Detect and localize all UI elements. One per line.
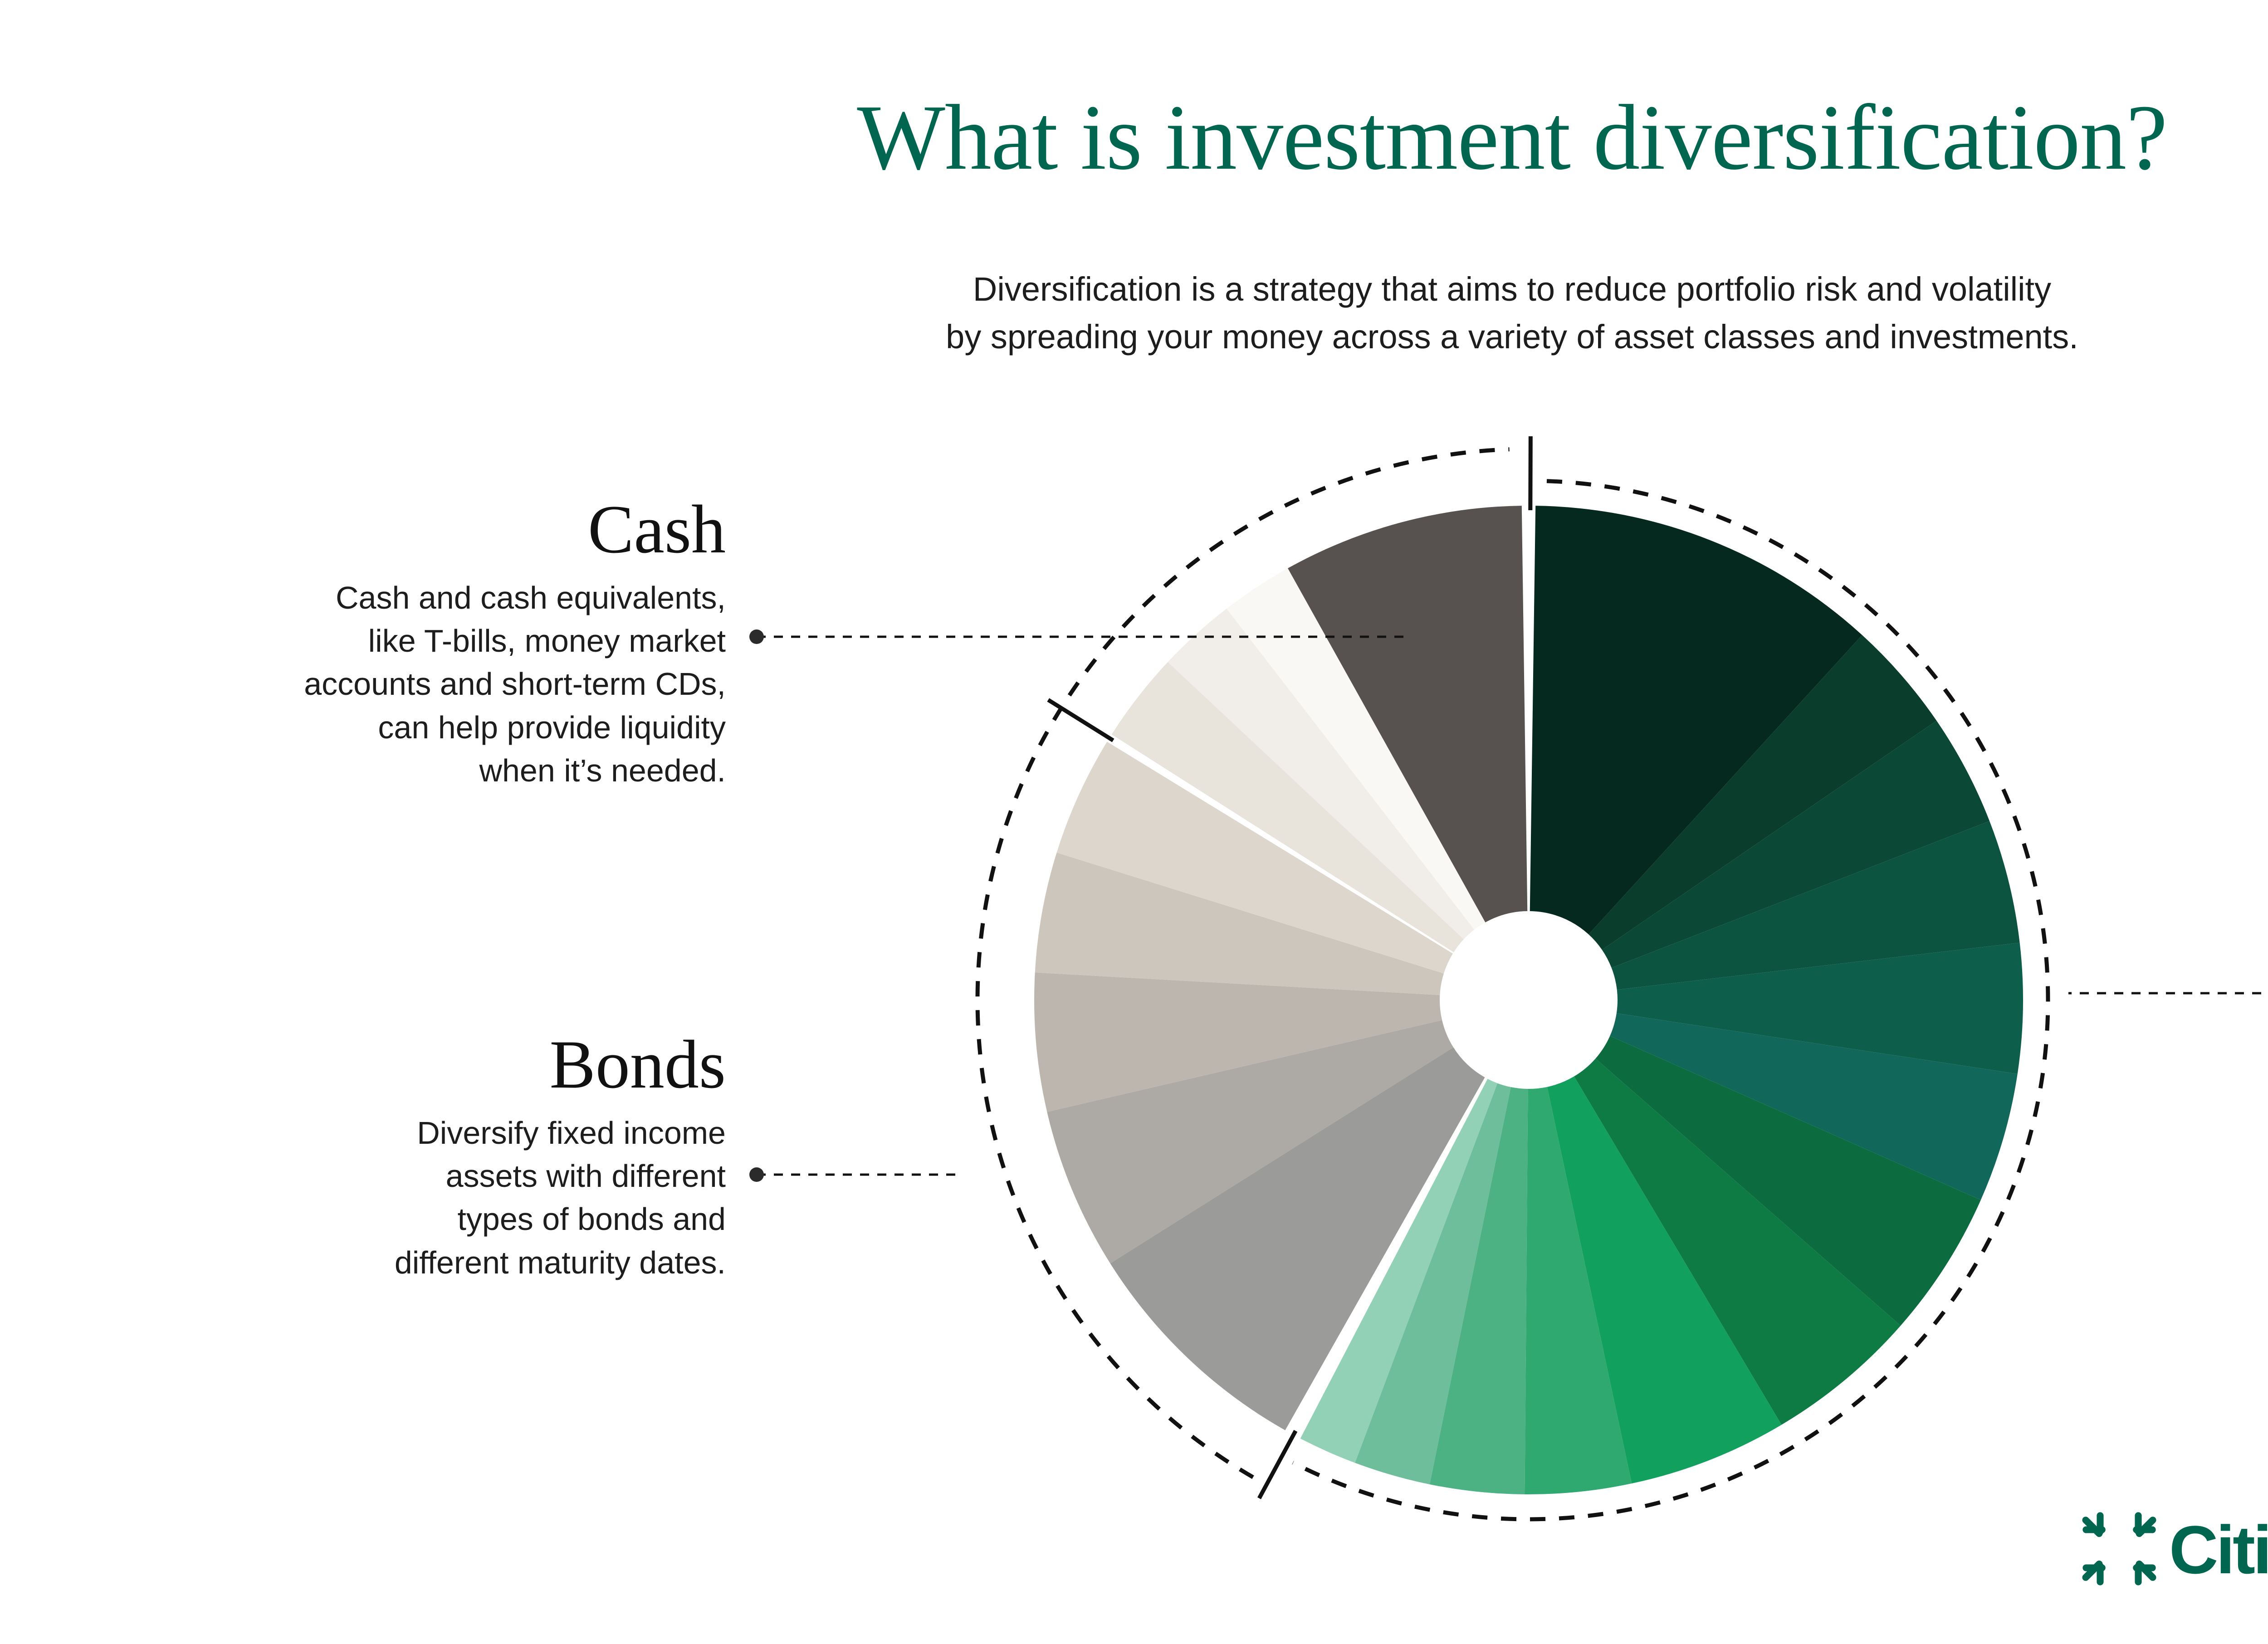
leader-cash-dot <box>749 629 764 644</box>
callout-bonds-body: Diversify fixed income assets with diffe… <box>363 1112 726 1284</box>
citizens-wordmark-text: Citizens <box>2169 1512 2268 1588</box>
citizens-wordmark: Citizens® <box>2169 1516 2268 1584</box>
leader-bonds-dot <box>749 1167 764 1182</box>
group-tick-cash-bonds <box>1048 700 1113 741</box>
group-tick-top <box>1530 436 1531 510</box>
donut-segment-group <box>1034 506 2023 1494</box>
brand-lockup: Citizens® WEALTH MANAGEMENT <box>2081 1510 2268 1587</box>
citizens-daisy-icon <box>2081 1511 2157 1587</box>
callout-cash-body: Cash and cash equivalents, like T-bills,… <box>299 576 726 792</box>
diversification-donut-chart <box>0 0 2268 1644</box>
group-tick-bonds-stocks <box>1259 1431 1295 1498</box>
callout-cash: Cash Cash and cash equivalents, like T-b… <box>299 494 726 792</box>
callout-bonds-title: Bonds <box>363 1029 726 1100</box>
callout-cash-title: Cash <box>299 494 726 565</box>
infographic-canvas: What is investment diversification? Dive… <box>0 0 2268 1644</box>
callout-bonds: Bonds Diversify fixed income assets with… <box>363 1029 726 1284</box>
